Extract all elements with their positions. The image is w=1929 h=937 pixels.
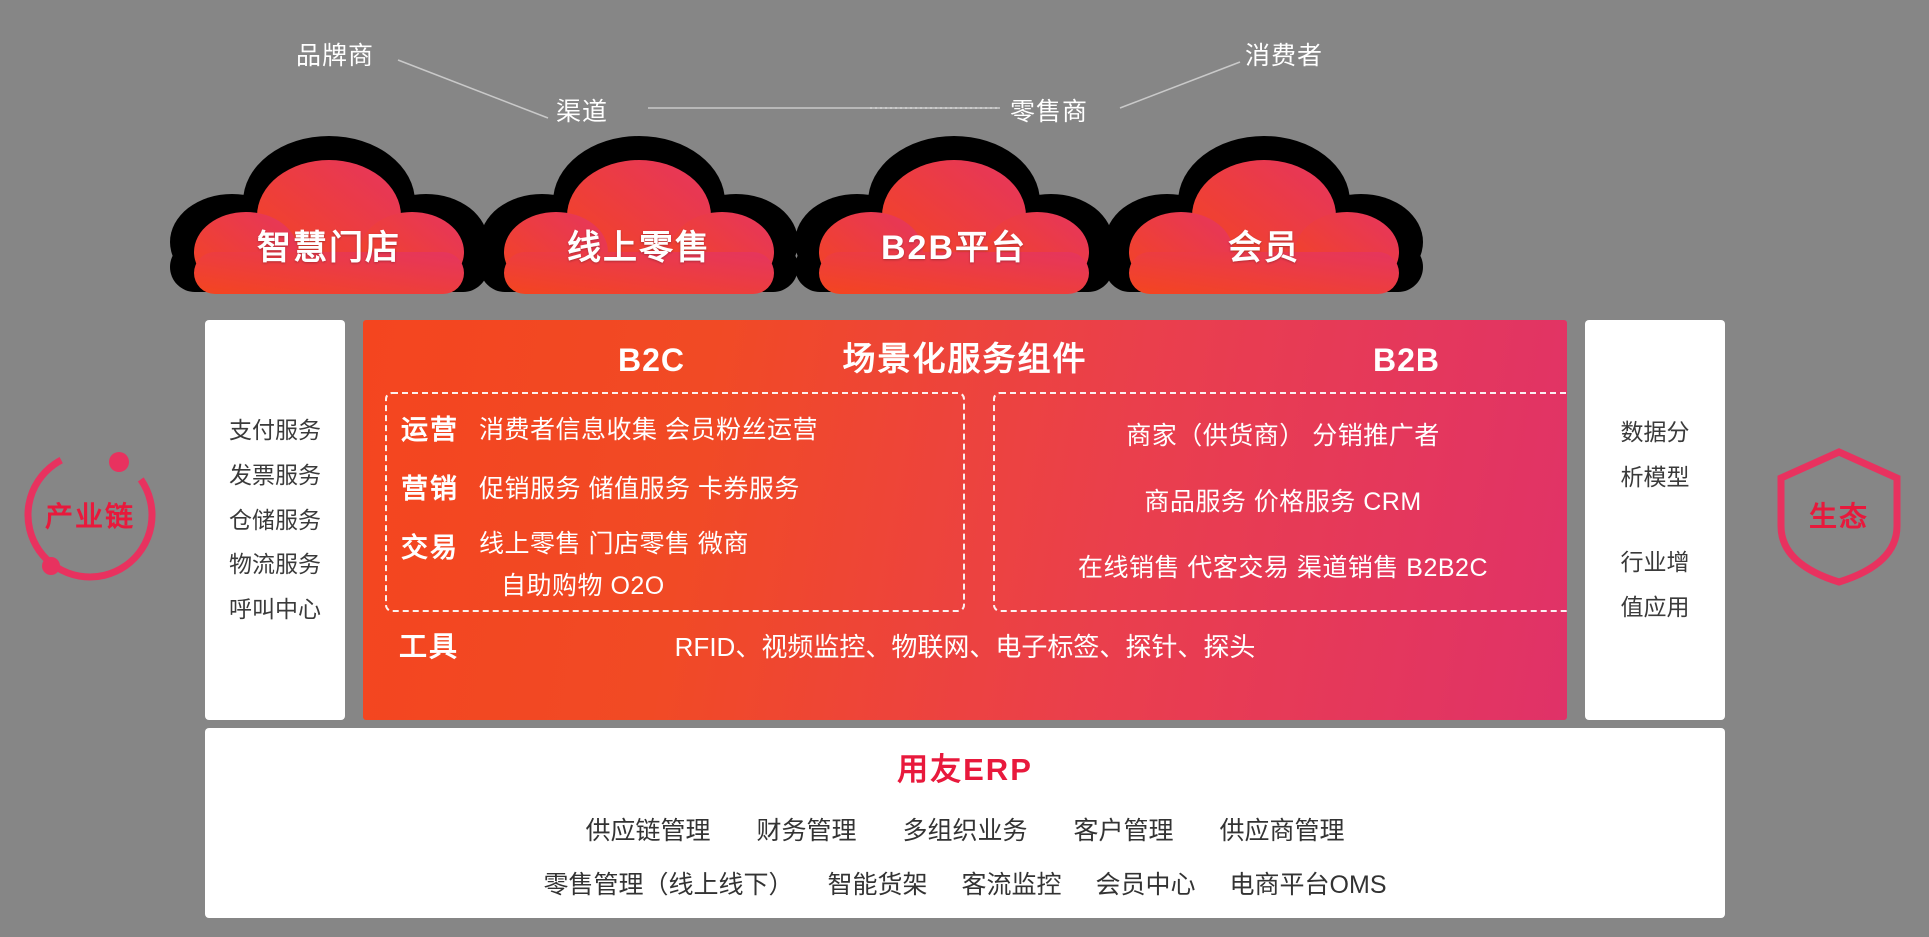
cloud-shape bbox=[460, 130, 818, 295]
erp-item: 供应链管理 bbox=[585, 811, 710, 847]
erp-panel: 用友ERP 供应链管理 财务管理 多组织业务 客户管理 供应商管理 零售管理（线… bbox=[205, 728, 1725, 918]
tools-row: 工具 RFID、视频监控、物联网、电子标签、探针、探头 bbox=[385, 625, 1545, 665]
cloud-shape bbox=[1085, 130, 1443, 295]
tools-tag: 工具 bbox=[385, 625, 505, 665]
b2c-row-transaction: 交易 线上零售 门店零售 微商 自助购物 O2O bbox=[387, 524, 963, 602]
cloud-label: B2B平台 bbox=[775, 220, 1133, 269]
b2b-box: 商家（供货商） 分销推广者 商品服务 价格服务 CRM 在线销售 代客交易 渠道… bbox=[993, 392, 1567, 612]
top-label-brand: 品牌商 bbox=[296, 36, 374, 72]
b2c-row-tag: 运营 bbox=[401, 408, 479, 447]
tools-values: RFID、视频监控、物联网、电子标签、探针、探头 bbox=[505, 627, 1545, 664]
connector-lines bbox=[0, 0, 1929, 140]
ecosystem-label: 生态 bbox=[1809, 495, 1869, 535]
erp-item: 零售管理（线上线下） bbox=[543, 865, 793, 901]
erp-item: 智能货架 bbox=[828, 865, 928, 901]
erp-item: 财务管理 bbox=[756, 811, 856, 847]
left-service-item: 支付服务 bbox=[229, 408, 321, 453]
erp-item: 客流监控 bbox=[962, 865, 1062, 901]
b2c-row-values-line1: 线上零售 门店零售 微商 bbox=[479, 524, 749, 560]
b2c-row-marketing: 营销 促销服务 储值服务 卡券服务 bbox=[387, 467, 963, 506]
erp-item: 多组织业务 bbox=[902, 811, 1027, 847]
erp-item: 会员中心 bbox=[1096, 865, 1196, 901]
cloud-label: 线上零售 bbox=[460, 220, 818, 269]
cloud-shape bbox=[150, 130, 508, 295]
cloud-online-retail[interactable]: 线上零售 bbox=[460, 130, 818, 295]
industry-chain-label: 产业链 bbox=[45, 495, 135, 535]
cloud-shape bbox=[775, 130, 1133, 295]
top-label-retailer: 零售商 bbox=[1010, 92, 1088, 128]
erp-row-1: 供应链管理 财务管理 多组织业务 客户管理 供应商管理 bbox=[205, 811, 1725, 847]
b2c-title: B2C bbox=[618, 342, 685, 379]
right-panel-group-one: 数据分 析模型 bbox=[1621, 410, 1690, 500]
main-band: 支付服务 发票服务 仓储服务 物流服务 呼叫中心 场景化服务组件 B2C B2B… bbox=[205, 320, 1725, 720]
cloud-label: 智慧门店 bbox=[150, 220, 508, 269]
cloud-smart-store[interactable]: 智慧门店 bbox=[150, 130, 508, 295]
b2c-row-values-line2: 自助购物 O2O bbox=[479, 566, 749, 602]
ecosystem-badge: 生态 bbox=[1764, 440, 1914, 590]
right-analytics-panel: 数据分 析模型 行业增 值应用 bbox=[1585, 320, 1725, 720]
erp-item: 电商平台OMS bbox=[1230, 865, 1387, 901]
left-service-item: 物流服务 bbox=[229, 542, 321, 587]
right-panel-line: 析模型 bbox=[1621, 455, 1690, 500]
b2b-line: 商家（供货商） 分销推广者 bbox=[995, 416, 1567, 452]
b2c-row-operation: 运营 消费者信息收集 会员粉丝运营 bbox=[387, 408, 963, 447]
cloud-b2b-platform[interactable]: B2B平台 bbox=[775, 130, 1133, 295]
left-service-item: 呼叫中心 bbox=[229, 587, 321, 632]
b2c-row-tag: 交易 bbox=[401, 524, 479, 565]
top-label-channel: 渠道 bbox=[556, 92, 608, 128]
erp-row-2: 零售管理（线上线下） 智能货架 客流监控 会员中心 电商平台OMS bbox=[205, 865, 1725, 901]
b2b-title: B2B bbox=[1373, 342, 1440, 379]
b2b-line: 在线销售 代客交易 渠道销售 B2B2C bbox=[995, 548, 1567, 584]
erp-title: 用友ERP bbox=[205, 744, 1725, 789]
b2c-row-tag: 营销 bbox=[401, 467, 479, 506]
right-panel-group-two: 行业增 值应用 bbox=[1621, 540, 1690, 630]
b2b-line: 商品服务 价格服务 CRM bbox=[995, 482, 1567, 518]
right-panel-line: 值应用 bbox=[1621, 585, 1690, 630]
b2c-row-values: 促销服务 储值服务 卡券服务 bbox=[479, 469, 800, 505]
right-panel-line: 行业增 bbox=[1621, 540, 1690, 585]
cloud-member[interactable]: 会员 bbox=[1085, 130, 1443, 295]
industry-chain-badge: 产业链 bbox=[15, 440, 165, 590]
left-services-panel: 支付服务 发票服务 仓储服务 物流服务 呼叫中心 bbox=[205, 320, 345, 720]
left-service-item: 发票服务 bbox=[229, 453, 321, 498]
scenario-service-components: 场景化服务组件 B2C B2B 运营 消费者信息收集 会员粉丝运营 营销 促销服… bbox=[363, 320, 1567, 720]
cloud-label: 会员 bbox=[1085, 220, 1443, 269]
b2c-box: 运营 消费者信息收集 会员粉丝运营 营销 促销服务 储值服务 卡券服务 交易 线… bbox=[385, 392, 965, 612]
right-panel-line: 数据分 bbox=[1621, 410, 1690, 455]
cloud-row: 智慧门店 线上零售 bbox=[0, 130, 1929, 325]
left-service-item: 仓储服务 bbox=[229, 498, 321, 543]
top-label-consumer: 消费者 bbox=[1245, 36, 1323, 72]
b2c-row-values: 消费者信息收集 会员粉丝运营 bbox=[479, 410, 818, 446]
erp-item: 供应商管理 bbox=[1220, 811, 1345, 847]
erp-item: 客户管理 bbox=[1074, 811, 1174, 847]
